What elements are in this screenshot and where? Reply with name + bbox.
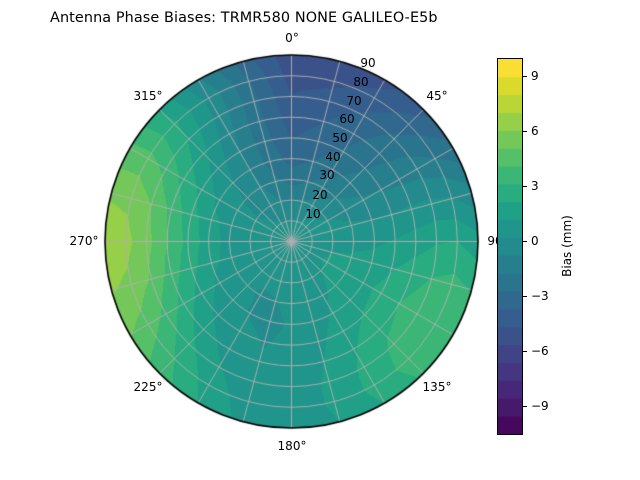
matplotlib-figure: Antenna Phase Biases: TRMR580 NONE GALIL…: [0, 0, 640, 480]
polar-contour-plot: [0, 0, 640, 480]
